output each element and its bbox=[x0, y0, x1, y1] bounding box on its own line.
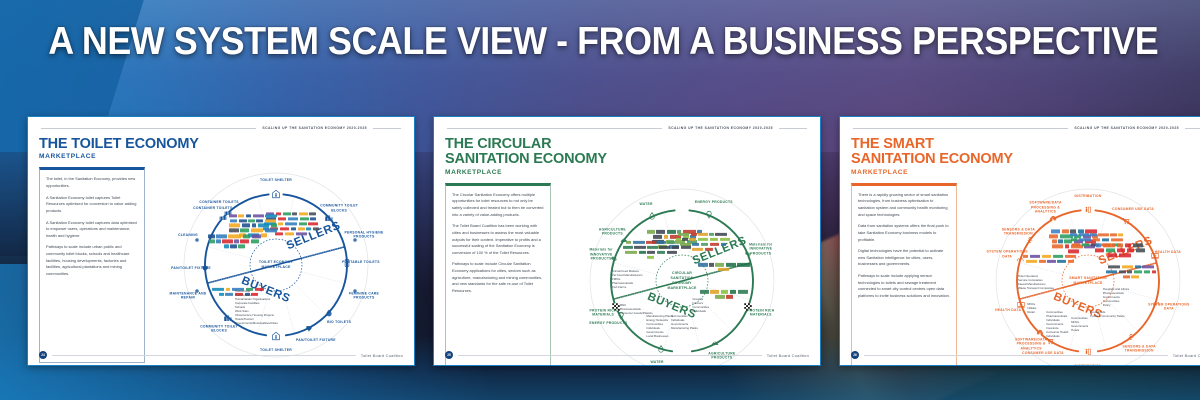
partner-logo bbox=[1117, 248, 1125, 251]
partner-logo bbox=[1093, 238, 1101, 241]
partner-logo bbox=[1142, 265, 1153, 268]
partner-logo bbox=[1136, 248, 1145, 251]
ring-node-icon bbox=[305, 324, 314, 333]
diagram-area: TOILET ECONOMY MARKETPLACESELLERSBUYERST… bbox=[149, 167, 403, 363]
partner-logo bbox=[285, 222, 298, 225]
slide-body: There is a rapidly growing sector of sma… bbox=[851, 183, 1200, 366]
partner-logo-cluster bbox=[623, 240, 679, 258]
partner-logo bbox=[656, 230, 665, 233]
partner-logo bbox=[1079, 238, 1091, 241]
partner-logo bbox=[1103, 243, 1115, 246]
slide-3: SCALING UP THE SANITATION ECONOMY 2020-2… bbox=[839, 116, 1200, 366]
partner-logo bbox=[265, 219, 276, 222]
ring-label: BIO TOILETS bbox=[317, 320, 361, 324]
diagram-area: SMART SANITATION MARKETPLACESELLERSBUYER… bbox=[961, 183, 1200, 366]
partner-logo bbox=[659, 245, 670, 248]
ring-node-icon bbox=[711, 339, 720, 348]
partner-logo-cluster bbox=[696, 263, 752, 271]
partner-logo bbox=[240, 229, 249, 232]
partner-logo bbox=[299, 222, 307, 225]
partner-logo bbox=[700, 290, 709, 293]
partner-logo bbox=[657, 240, 666, 243]
slide-callout-box: The Circular Sanitation Economy offers m… bbox=[445, 183, 551, 366]
partner-logo bbox=[1057, 260, 1066, 263]
outer-ring-label: MAINTENANCE AND REPAIR bbox=[166, 291, 210, 300]
partner-logo bbox=[228, 235, 241, 238]
partner-logo bbox=[634, 245, 646, 248]
partner-logo bbox=[242, 224, 251, 227]
partner-logo bbox=[1123, 275, 1130, 278]
callout-paragraph: The Circular Sanitation Economy offers m… bbox=[452, 192, 544, 219]
partner-logo bbox=[709, 263, 714, 266]
partner-logo bbox=[308, 222, 318, 225]
ring-label: SOFTWARE/DATA PROCESSING & ANALYTICS bbox=[1024, 200, 1068, 213]
partner-logo bbox=[216, 235, 226, 238]
slide-body: The Circular Sanitation Economy offers m… bbox=[445, 183, 809, 366]
partner-logo bbox=[1118, 233, 1123, 236]
ring-label: PAN/TOILET FIXTURE bbox=[169, 266, 213, 270]
page-number-badge: 25 bbox=[445, 351, 453, 359]
outer-ring-label: CLEANING bbox=[166, 233, 210, 237]
ring-label: Materials for INNOVATIVE PRODUCTS bbox=[579, 248, 623, 261]
partner-logo bbox=[709, 233, 714, 236]
screenshot-canvas: A NEW SYSTEM SCALE VIEW - FROM A BUSINES… bbox=[0, 0, 1200, 400]
partner-logo bbox=[647, 250, 655, 253]
slide-2: SCALING UP THE SANITATION ECONOMY 2020-2… bbox=[433, 116, 821, 366]
partner-logo bbox=[300, 217, 309, 220]
partner-logo bbox=[1023, 255, 1028, 258]
partner-logo-cluster bbox=[1103, 265, 1159, 278]
partner-logo bbox=[689, 238, 696, 241]
partner-logo bbox=[646, 240, 655, 243]
slide-kicker-bar: SCALING UP THE SANITATION ECONOMY 2020-2… bbox=[41, 126, 401, 130]
buyer-segment-list: Households Public & Community Toilets bbox=[1090, 310, 1142, 318]
partner-logo bbox=[253, 214, 264, 217]
partner-logo bbox=[1152, 270, 1156, 273]
partner-logo bbox=[1108, 253, 1117, 256]
partner-logo bbox=[1106, 248, 1116, 251]
partner-logo bbox=[680, 243, 691, 246]
partner-logo bbox=[1117, 243, 1124, 246]
partner-logo bbox=[1106, 270, 1117, 273]
partner-logo bbox=[721, 243, 726, 246]
partner-logo bbox=[258, 224, 269, 227]
ring-label: CONSUMER USE DATA bbox=[1111, 206, 1155, 210]
callout-paragraph: There is a rapidly growing sector of sma… bbox=[858, 192, 950, 219]
partner-logo bbox=[208, 235, 215, 238]
partner-logo bbox=[738, 290, 748, 293]
ring-label: TOILET SHELTER bbox=[254, 178, 298, 182]
diagram-area: CIRCULAR SANITATION ECONOMY MARKETPLACES… bbox=[555, 183, 809, 366]
partner-logo bbox=[1065, 255, 1077, 258]
partner-logo bbox=[710, 243, 719, 246]
partner-logo bbox=[633, 240, 645, 243]
ring-node-icon bbox=[1121, 216, 1130, 225]
partner-logo bbox=[1144, 270, 1150, 273]
partner-logo bbox=[240, 240, 249, 243]
slide-subtitle: MARKETPLACE bbox=[39, 153, 403, 160]
partner-logo bbox=[698, 263, 708, 266]
slide-title: THE SMART SANITATION ECONOMY bbox=[851, 137, 1200, 168]
partner-logo bbox=[252, 235, 261, 238]
slide-body: The toilet, in the Sanitation Economy, p… bbox=[39, 167, 403, 363]
partner-logo bbox=[299, 212, 308, 215]
partner-logo bbox=[1098, 233, 1109, 236]
economy-wheel-diagram: SMART SANITATION MARKETPLACESELLERSBUYER… bbox=[994, 187, 1182, 366]
ring-label: COMMUNITY TOILET BLOCKS bbox=[317, 204, 361, 213]
ring-label: PROTEIN RICH MATERIALS bbox=[739, 308, 783, 317]
callout-paragraph: Pathways to scale include Circular Sanit… bbox=[452, 261, 544, 294]
partner-logo bbox=[292, 212, 297, 215]
partner-logo bbox=[1127, 248, 1135, 251]
footer-brand: Toilet Board Coalition bbox=[1173, 353, 1200, 358]
economy-wheel-diagram: TOILET ECONOMY MARKETPLACESELLERSBUYERST… bbox=[182, 171, 370, 359]
buyer-segment-list: Hospitals and Clinics Pharmaceuticals Go… bbox=[1103, 287, 1155, 307]
partner-logo bbox=[1070, 233, 1077, 236]
callout-paragraph: The toilet, in the Sanitation Economy, p… bbox=[46, 176, 138, 189]
slide-kicker: SCALING UP THE SANITATION ECONOMY 2020-2… bbox=[262, 126, 367, 130]
partner-logo bbox=[692, 243, 699, 246]
kicker-rule-left bbox=[447, 128, 662, 129]
ring-label: HEALTH DATA bbox=[986, 308, 1030, 312]
ring-node-icon bbox=[704, 210, 713, 219]
slide-subtitle: MARKETPLACE bbox=[445, 169, 809, 176]
partner-logo bbox=[1119, 270, 1126, 273]
partner-logo bbox=[296, 232, 307, 235]
ring-label: WATER bbox=[624, 201, 668, 205]
buyer-segment-list: Toilet Operators Service Companies Faeca… bbox=[1018, 274, 1070, 290]
partner-logo bbox=[1108, 265, 1120, 268]
ring-node-icon bbox=[1048, 215, 1057, 224]
partner-logo bbox=[647, 245, 657, 248]
partner-logo bbox=[1110, 233, 1116, 236]
partner-logo bbox=[288, 217, 298, 220]
partner-logo bbox=[224, 245, 229, 248]
callout-paragraph: Data from sanitation systems offers the … bbox=[858, 223, 950, 243]
partner-logo bbox=[238, 214, 244, 217]
outer-ring-label: FEMININE CARE PRODUCTS bbox=[342, 291, 386, 300]
outer-node-icon bbox=[352, 288, 358, 294]
partner-logo bbox=[229, 229, 239, 232]
partner-logo bbox=[623, 245, 633, 248]
ring-label: ENERGY PRODUCTS bbox=[586, 321, 630, 325]
partner-logo bbox=[1134, 270, 1142, 273]
partner-logo bbox=[280, 227, 289, 230]
partner-logo bbox=[626, 240, 631, 243]
partner-logo bbox=[1133, 243, 1144, 246]
partner-logo bbox=[682, 238, 688, 241]
ring-label: ENERGY PRODUCTS bbox=[692, 200, 736, 204]
partner-logo bbox=[1079, 233, 1089, 236]
partner-logo bbox=[1039, 260, 1046, 263]
partner-logo bbox=[1125, 243, 1131, 246]
callout-paragraph: A Sanitation Economy toilet captures Toi… bbox=[46, 195, 138, 215]
callout-paragraph: Pathways to scale include applying senso… bbox=[858, 273, 950, 300]
partner-logo bbox=[730, 290, 737, 293]
footer-brand: Toilet Board Coalition bbox=[361, 353, 403, 358]
slide-kicker-bar: SCALING UP THE SANITATION ECONOMY 2020-2… bbox=[447, 126, 807, 130]
partner-logo bbox=[664, 235, 669, 238]
partner-logo bbox=[239, 219, 247, 222]
slide-callout-box: There is a rapidly growing sector of sma… bbox=[851, 183, 957, 366]
partner-logo bbox=[720, 238, 730, 241]
partner-logo bbox=[657, 250, 666, 253]
partner-logo bbox=[647, 255, 654, 258]
partner-logo bbox=[310, 217, 316, 220]
partner-logo bbox=[1071, 238, 1078, 241]
slide-deck: SCALING UP THE SANITATION ECONOMY 2020-2… bbox=[27, 116, 1200, 366]
partner-logo bbox=[647, 230, 655, 233]
partner-logo bbox=[1131, 275, 1139, 278]
ring-label: PORTABLE TOILETS bbox=[339, 260, 383, 264]
slide-title: THE TOILET ECONOMY bbox=[39, 137, 403, 152]
partner-logo bbox=[256, 219, 263, 222]
partner-logo-cluster bbox=[1092, 243, 1148, 256]
callout-paragraph: A Sanitation Economy toilet captures dat… bbox=[46, 220, 138, 240]
partner-logo bbox=[1096, 243, 1101, 246]
partner-logo bbox=[721, 290, 728, 293]
partner-logo bbox=[229, 224, 240, 227]
partner-logo bbox=[639, 250, 646, 253]
partner-logo bbox=[306, 227, 311, 230]
partner-logo bbox=[230, 219, 237, 222]
page-number-badge: 24 bbox=[39, 351, 47, 359]
partner-logo bbox=[285, 232, 294, 235]
partner-logo bbox=[251, 229, 264, 232]
partner-logo bbox=[230, 245, 237, 248]
partner-logo-cluster bbox=[1022, 255, 1078, 263]
partner-logo bbox=[222, 240, 232, 243]
buyer-segment-list: Animal Feed Markets Pet Food Manufacture… bbox=[612, 269, 664, 289]
ring-node-icon bbox=[647, 212, 656, 221]
partner-logo bbox=[291, 227, 296, 230]
footer-rule bbox=[458, 355, 762, 356]
partner-logo bbox=[698, 238, 709, 241]
partner-logo bbox=[212, 288, 224, 291]
outer-node-icon bbox=[194, 288, 200, 294]
partner-logo bbox=[1052, 240, 1057, 243]
ring-label: PAN/TOILET FIXTURE bbox=[294, 338, 338, 342]
headline-banner: A NEW SYSTEM SCALE VIEW - FROM A BUSINES… bbox=[0, 22, 1200, 62]
ring-node-icon bbox=[1084, 205, 1093, 214]
partner-logo bbox=[283, 212, 291, 215]
ring-label: HEALTH DATA bbox=[1146, 249, 1190, 253]
ring-node-icon bbox=[1025, 235, 1034, 244]
partner-logo bbox=[715, 233, 727, 236]
partner-logo bbox=[705, 248, 714, 251]
partner-logo bbox=[229, 214, 237, 217]
economy-wheel-diagram: CIRCULAR SANITATION ECONOMY MARKETPLACES… bbox=[588, 187, 776, 366]
partner-logo bbox=[625, 250, 638, 253]
partner-logo bbox=[1102, 238, 1110, 241]
partner-logo-cluster bbox=[675, 233, 731, 251]
page-title: A NEW SYSTEM SCALE VIEW - FROM A BUSINES… bbox=[48, 22, 1158, 62]
slide-footer: 26Toilet Board Coalition bbox=[851, 351, 1200, 359]
slide-1: SCALING UP THE SANITATION ECONOMY 2020-2… bbox=[27, 116, 415, 366]
buyer-segment-list: Growers Farmers Communities Individuals bbox=[692, 297, 744, 313]
partner-logo bbox=[692, 248, 703, 251]
kicker-rule-right bbox=[779, 128, 807, 129]
partner-logo bbox=[1095, 248, 1105, 251]
partner-logo bbox=[715, 263, 724, 266]
ring-label: DISTRIBUTION bbox=[1066, 364, 1110, 366]
ring-label: COMMUNITY TOILET BLOCKS bbox=[197, 324, 241, 333]
slide-kicker: SCALING UP THE SANITATION ECONOMY 2020-2… bbox=[1074, 126, 1179, 130]
outer-ring-label: PERSONAL HYGIENE PRODUCTS bbox=[342, 231, 386, 240]
partner-logo bbox=[226, 288, 231, 291]
slide-kicker-bar: SCALING UP THE SANITATION ECONOMY 2020-2… bbox=[853, 126, 1200, 130]
partner-logo bbox=[1049, 235, 1059, 238]
partner-logo bbox=[718, 268, 729, 271]
ring-node-icon bbox=[324, 308, 333, 317]
ring-node-icon bbox=[272, 190, 281, 199]
partner-logo bbox=[251, 240, 260, 243]
partner-logo bbox=[246, 214, 251, 217]
outer-node-icon bbox=[194, 237, 200, 243]
kicker-rule-left bbox=[41, 128, 256, 129]
partner-logo bbox=[698, 233, 708, 236]
slide-subtitle: MARKETPLACE bbox=[851, 169, 1200, 176]
partner-logo bbox=[252, 224, 256, 227]
ring-label: SOFTWARE/DATA PROCESSING & ANALYTICS bbox=[1009, 337, 1053, 350]
partner-logo bbox=[209, 240, 214, 243]
ring-label: DISTRIBUTION bbox=[1066, 194, 1110, 198]
partner-logo bbox=[1030, 255, 1040, 258]
partner-logo bbox=[678, 233, 690, 236]
kicker-rule-right bbox=[373, 128, 401, 129]
partner-logo bbox=[298, 227, 305, 230]
footer-rule bbox=[864, 355, 1168, 356]
ring-node-icon bbox=[224, 314, 233, 323]
callout-paragraph: The Toilet Board Coalition has been work… bbox=[452, 223, 544, 256]
callout-paragraph: Pathways to scale include urban public a… bbox=[46, 244, 138, 277]
partner-logo bbox=[1026, 260, 1037, 263]
partner-logo bbox=[1135, 265, 1141, 268]
partner-logo bbox=[710, 290, 719, 293]
partner-logo bbox=[1090, 233, 1096, 236]
ring-node-icon bbox=[324, 213, 333, 222]
partner-logo-cluster bbox=[206, 235, 262, 248]
ring-label: AGRICULTURE PRODUCTS bbox=[590, 228, 634, 237]
partner-logo bbox=[1051, 230, 1061, 233]
ring-label: CONTAINER TOILETS bbox=[197, 200, 241, 204]
partner-logo bbox=[726, 263, 736, 266]
ring-label: Materials for INNOVATIVE PRODUCTS bbox=[739, 242, 783, 255]
ring-label: PROTEIN RICH MATERIALS bbox=[581, 308, 625, 317]
footer-rule bbox=[52, 355, 356, 356]
partner-logo bbox=[1122, 265, 1134, 268]
partner-logo bbox=[1042, 255, 1052, 258]
ring-label: SENSORS & DATA TRANSMISSION bbox=[996, 228, 1040, 237]
partner-logo bbox=[1053, 255, 1063, 258]
partner-logo bbox=[248, 219, 255, 222]
page-number-badge: 26 bbox=[851, 351, 859, 359]
slide-title: THE CIRCULAR SANITATION ECONOMY bbox=[445, 137, 809, 168]
outer-node-icon bbox=[352, 237, 358, 243]
partner-logo bbox=[219, 293, 224, 296]
slide-callout-box: The toilet, in the Sanitation Economy, p… bbox=[39, 167, 145, 363]
callout-paragraph: Digital technologies have the potential … bbox=[858, 248, 950, 268]
buyer-segment-list: Households Communities Humanitarian Orga… bbox=[235, 289, 287, 325]
partner-logo bbox=[710, 238, 718, 241]
partner-logo bbox=[1127, 270, 1132, 273]
partner-logo bbox=[691, 233, 697, 236]
ring-node-icon bbox=[272, 332, 281, 341]
slide-kicker: SCALING UP THE SANITATION ECONOMY 2020-2… bbox=[668, 126, 773, 130]
partner-logo bbox=[1052, 245, 1064, 248]
partner-logo bbox=[271, 224, 278, 227]
partner-logo bbox=[265, 229, 278, 232]
footer-brand: Toilet Board Coalition bbox=[767, 353, 809, 358]
partner-logo bbox=[309, 212, 316, 215]
partner-logo bbox=[234, 240, 239, 243]
partner-logo bbox=[313, 227, 319, 230]
slide-footer: 24Toilet Board Coalition bbox=[39, 351, 403, 359]
partner-logo bbox=[216, 240, 221, 243]
partner-logo bbox=[243, 235, 251, 238]
ring-node-icon bbox=[1126, 333, 1135, 342]
partner-logo bbox=[653, 235, 662, 238]
partner-logo bbox=[1082, 243, 1089, 246]
kicker-rule-left bbox=[853, 128, 1068, 129]
slide-footer: 25Toilet Board Coalition bbox=[445, 351, 809, 359]
partner-logo-cluster bbox=[225, 214, 281, 237]
ring-label: WATER bbox=[635, 360, 679, 364]
partner-logo bbox=[265, 214, 277, 217]
partner-logo bbox=[225, 293, 233, 296]
partner-logo bbox=[676, 238, 681, 241]
partner-logo bbox=[1058, 240, 1062, 243]
partner-logo bbox=[1062, 230, 1069, 233]
partner-logo bbox=[238, 245, 245, 248]
partner-logo bbox=[1068, 250, 1080, 253]
kicker-rule-right bbox=[1185, 128, 1200, 129]
partner-logo bbox=[1047, 260, 1055, 263]
buyer-segment-list: Communities Individuals Governments Manu… bbox=[671, 314, 723, 330]
partner-logo bbox=[1111, 238, 1123, 241]
partner-logo bbox=[737, 263, 750, 266]
partner-logo bbox=[1068, 260, 1074, 263]
partner-logo bbox=[701, 243, 709, 246]
partner-logo bbox=[1119, 253, 1131, 256]
partner-logo bbox=[1072, 243, 1080, 246]
